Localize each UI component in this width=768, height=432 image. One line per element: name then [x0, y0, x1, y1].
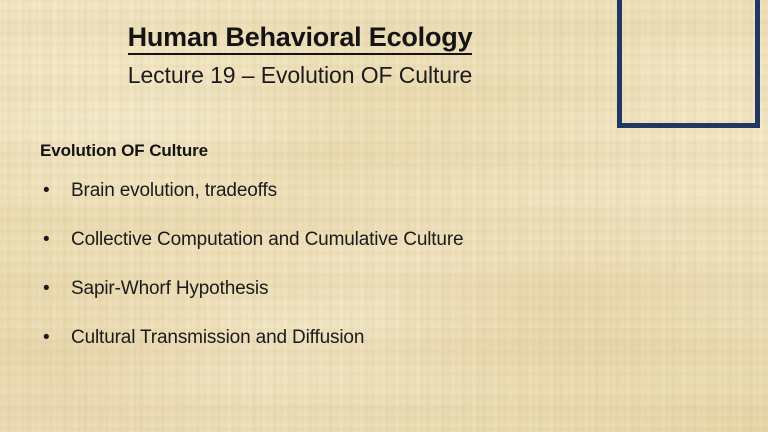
list-item-label: Cultural Transmission and Diffusion — [71, 327, 364, 348]
list-item-label: Collective Computation and Cumulative Cu… — [71, 229, 463, 250]
list-item-label: Brain evolution, tradeoffs — [71, 180, 277, 201]
list-item: • Collective Computation and Cumulative … — [40, 229, 730, 252]
bullet-point-icon: • — [43, 278, 50, 301]
presentation-slide: Human Behavioral Ecology Lecture 19 – Ev… — [0, 0, 768, 432]
slide-body: Evolution OF Culture • Brain evolution, … — [40, 141, 730, 350]
bullet-point-icon: • — [43, 327, 50, 350]
empty-content-placeholder-box[interactable] — [617, 0, 760, 128]
slide-title: Human Behavioral Ecology — [128, 22, 473, 55]
list-item: • Cultural Transmission and Diffusion — [40, 327, 730, 350]
list-item-label: Sapir-Whorf Hypothesis — [71, 278, 268, 299]
slide-subtitle: Lecture 19 – Evolution OF Culture — [0, 62, 600, 88]
bullet-list: • Brain evolution, tradeoffs • Collectiv… — [40, 180, 730, 349]
slide-header: Human Behavioral Ecology Lecture 19 – Ev… — [0, 22, 600, 89]
bullet-point-icon: • — [43, 180, 50, 203]
list-item: • Brain evolution, tradeoffs — [40, 180, 730, 203]
bullet-point-icon: • — [43, 229, 50, 252]
list-item: • Sapir-Whorf Hypothesis — [40, 278, 730, 301]
body-heading: Evolution OF Culture — [40, 141, 730, 161]
